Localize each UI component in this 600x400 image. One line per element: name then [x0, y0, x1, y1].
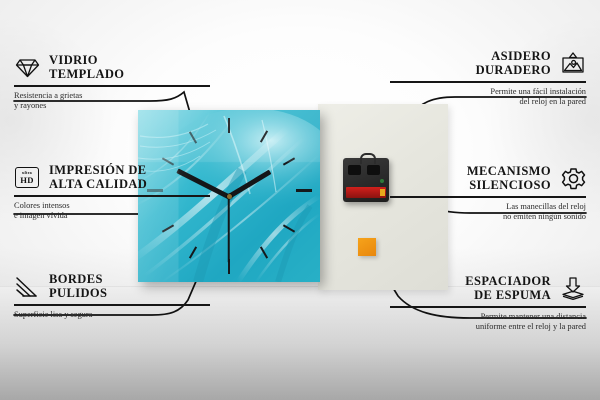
callout-rule	[390, 196, 586, 198]
callout-description: Permite mantener una distancia uniforme …	[390, 312, 586, 333]
callout-rule	[390, 81, 586, 83]
mechanism-hanger-icon	[360, 153, 376, 164]
callout-bordes-pulidos: BORDES PULIDOS Superficie lisa y segura	[14, 273, 210, 320]
callout-mecanismo-silencioso: MECANISMO SILENCIOSO Las manecillas del …	[390, 165, 586, 223]
clock-hand-second	[228, 196, 230, 262]
callout-description: Colores intensos e imagen vívida	[14, 201, 210, 222]
battery	[346, 187, 386, 198]
callout-description: Las manecillas del reloj no emiten ningú…	[390, 202, 586, 223]
callout-rule	[14, 195, 210, 197]
callout-title: BORDES PULIDOS	[49, 273, 107, 300]
callout-title: ASIDERO DURADERO	[476, 50, 551, 77]
callout-asidero-duradero: ASIDERO DURADERO Permite una fácil insta…	[390, 50, 586, 108]
callout-title: VIDRIO TEMPLADO	[49, 54, 124, 81]
diamond-icon	[14, 56, 40, 80]
callout-title: IMPRESIÓN DE ALTA CALIDAD	[49, 164, 147, 191]
callout-description: Resistencia a grietas y rayones	[14, 91, 210, 112]
foam-spacer	[358, 238, 376, 256]
mechanism-indicator	[380, 179, 384, 183]
callout-title: MECANISMO SILENCIOSO	[467, 165, 551, 192]
arrow-down-pad-icon	[560, 277, 586, 301]
ultra-hd-big-label: HD	[20, 176, 34, 185]
mechanism-slot-left	[348, 165, 361, 175]
ultra-hd-icon: ultra HD	[14, 166, 40, 190]
callout-impresion-alta-calidad: ultra HD IMPRESIÓN DE ALTA CALIDAD Color…	[14, 164, 210, 222]
gear-icon	[560, 167, 586, 191]
clock-mechanism	[343, 158, 389, 202]
callout-espaciador-de-espuma: ESPACIADOR DE ESPUMA Permite mantener un…	[390, 275, 586, 333]
diagonal-lines-icon	[14, 275, 40, 299]
clock-tick-12	[228, 118, 230, 133]
callout-rule	[14, 85, 210, 87]
clock-center-pin	[227, 194, 232, 199]
mechanism-slot-right	[367, 165, 380, 175]
callout-vidrio-templado: VIDRIO TEMPLADO Resistencia a grietas y …	[14, 54, 210, 112]
infographic-canvas: VIDRIO TEMPLADO Resistencia a grietas y …	[0, 0, 600, 400]
callout-description: Superficie lisa y segura	[14, 310, 210, 321]
callout-title: ESPACIADOR DE ESPUMA	[465, 275, 551, 302]
callout-rule	[14, 304, 210, 306]
callout-rule	[390, 306, 586, 308]
clock-tick-3	[296, 189, 312, 192]
callout-description: Permite una fácil instalación del reloj …	[390, 87, 586, 108]
picture-frame-hanging-icon	[560, 52, 586, 76]
